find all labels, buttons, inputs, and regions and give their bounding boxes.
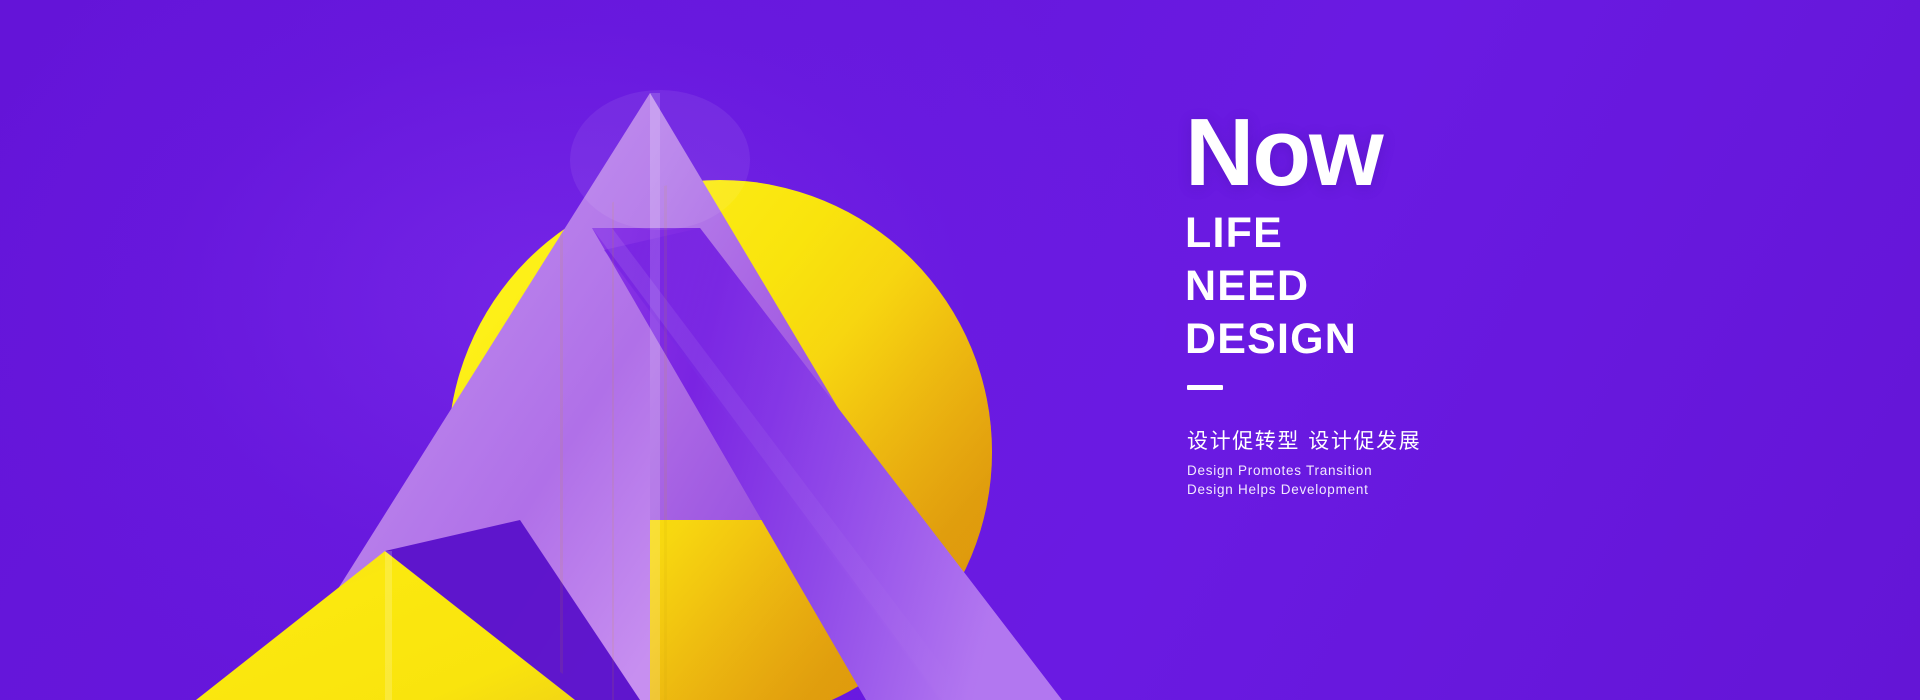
headline-line-2: NEED <box>1185 265 1745 308</box>
hero-tagline-block: 设计促转型 设计促发展 Design Promotes Transition D… <box>1185 428 1745 496</box>
yellow-triangle-crease <box>385 551 392 700</box>
headline-line-1: LIFE <box>1185 212 1745 255</box>
hero-banner: Now LIFE NEED DESIGN 设计促转型 设计促发展 Design … <box>0 0 1920 700</box>
tagline-english-line-2: Design Helps Development <box>1187 482 1745 497</box>
apex-glow <box>570 90 750 230</box>
hero-kicker: Now <box>1185 108 1745 198</box>
tagline-english-line-1: Design Promotes Transition <box>1187 463 1745 478</box>
tagline-chinese: 设计促转型 设计促发展 <box>1187 428 1745 454</box>
hero-copy-block: Now LIFE NEED DESIGN 设计促转型 设计促发展 Design … <box>1185 108 1745 497</box>
hero-headline: LIFE NEED DESIGN <box>1185 212 1745 361</box>
divider-rule <box>1187 385 1223 390</box>
headline-line-3: DESIGN <box>1185 318 1745 361</box>
